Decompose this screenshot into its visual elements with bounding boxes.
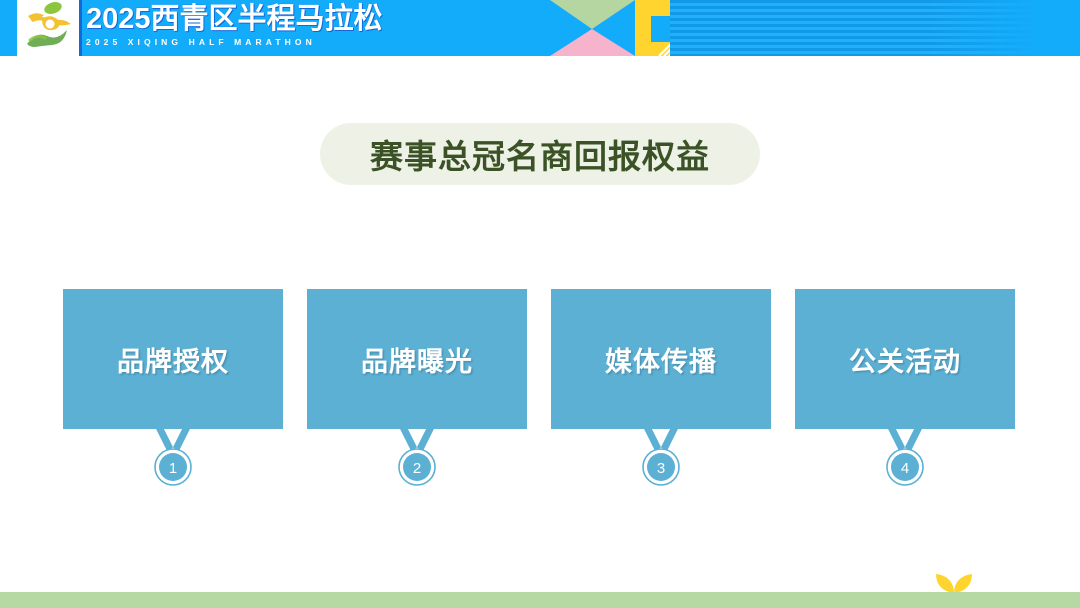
medal-disc-icon bbox=[403, 453, 431, 481]
header-stripe-fade bbox=[930, 0, 1080, 56]
benefit-card-box-2[interactable]: 品牌曝光 bbox=[307, 289, 527, 429]
benefit-card-label-3: 媒体传播 bbox=[605, 340, 717, 379]
event-header-banner: 2025西青区半程马拉松 2025 XIQING HALF MARATHON bbox=[0, 0, 1080, 56]
ribbon-right-icon bbox=[420, 427, 431, 449]
ribbon-left-icon bbox=[891, 427, 902, 449]
benefit-card-1[interactable]: 品牌授权 1 bbox=[63, 289, 283, 489]
benefit-card-label-4: 公关活动 bbox=[849, 340, 961, 379]
benefit-card-box-1[interactable]: 品牌授权 bbox=[63, 289, 283, 429]
medal-disc-icon bbox=[647, 453, 675, 481]
ribbon-right-icon bbox=[664, 427, 675, 449]
medal-disc-icon bbox=[891, 453, 919, 481]
header-title-chinese: 2025西青区半程马拉松 bbox=[86, 5, 383, 34]
footer-green-bar bbox=[0, 592, 1080, 608]
sprout-decoration bbox=[928, 562, 980, 594]
ribbon-left-icon bbox=[647, 427, 658, 449]
benefit-card-label-2: 品牌曝光 bbox=[361, 340, 473, 379]
benefit-card-3[interactable]: 媒体传播 3 bbox=[551, 289, 771, 489]
benefit-card-2[interactable]: 品牌曝光 2 bbox=[307, 289, 527, 489]
benefit-medal-4: 4 bbox=[795, 427, 1015, 489]
header-geometric-shapes bbox=[535, 0, 670, 56]
pink-triangle-icon bbox=[550, 29, 635, 56]
benefit-card-row: 品牌授权 1 品牌曝光 2 媒体传播 bbox=[63, 289, 1017, 489]
ribbon-right-icon bbox=[176, 427, 187, 449]
ribbon-left-icon bbox=[159, 427, 170, 449]
running-figure-logo-icon bbox=[17, 0, 79, 56]
benefit-medal-1: 1 bbox=[63, 427, 283, 489]
green-triangle-icon bbox=[550, 0, 635, 29]
benefit-medal-2: 2 bbox=[307, 427, 527, 489]
ribbon-right-icon bbox=[908, 427, 919, 449]
header-title-lockup: 2025西青区半程马拉松 2025 XIQING HALF MARATHON bbox=[86, 5, 383, 47]
header-title-english: 2025 XIQING HALF MARATHON bbox=[86, 38, 383, 47]
ribbon-left-icon bbox=[403, 427, 414, 449]
medal-disc-icon bbox=[159, 453, 187, 481]
page-title: 赛事总冠名商回报权益 bbox=[370, 130, 710, 178]
marathon-logo-tile bbox=[17, 0, 79, 56]
benefit-medal-3: 3 bbox=[551, 427, 771, 489]
page-title-pill: 赛事总冠名商回报权益 bbox=[320, 123, 760, 185]
benefit-card-4[interactable]: 公关活动 4 bbox=[795, 289, 1015, 489]
benefit-card-label-1: 品牌授权 bbox=[117, 340, 229, 379]
benefit-card-box-3[interactable]: 媒体传播 bbox=[551, 289, 771, 429]
sprout-leaf-icon bbox=[928, 562, 980, 594]
inner-blue-square-icon bbox=[651, 16, 670, 42]
benefit-card-box-4[interactable]: 公关活动 bbox=[795, 289, 1015, 429]
